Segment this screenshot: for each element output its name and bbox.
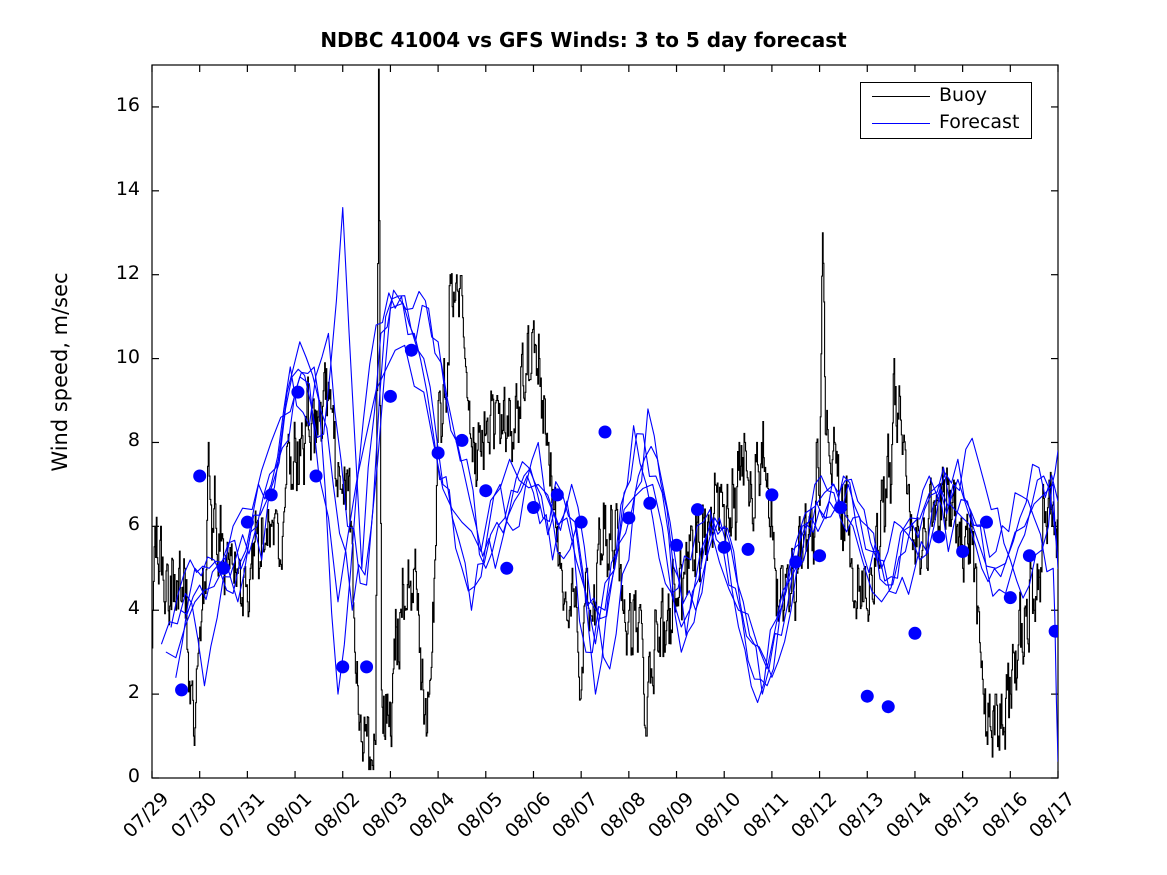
y-tick-label: 14 <box>100 178 140 200</box>
y-tick-label: 6 <box>100 513 140 535</box>
axis-ticks <box>152 65 1058 778</box>
y-tick-label: 8 <box>100 429 140 451</box>
legend-label-forecast: Forecast <box>939 111 1019 133</box>
y-tick-label: 10 <box>100 346 140 368</box>
legend-entry-forecast: Forecast <box>861 110 1033 138</box>
legend-entry-buoy: Buoy <box>861 83 1033 111</box>
legend-swatch-forecast <box>872 123 930 124</box>
figure-canvas: NDBC 41004 vs GFS Winds: 3 to 5 day fore… <box>0 0 1167 875</box>
y-tick-label: 2 <box>100 681 140 703</box>
buoy-series-line <box>152 69 1058 769</box>
legend-label-buoy: Buoy <box>939 84 987 106</box>
y-tick-label: 12 <box>100 262 140 284</box>
y-tick-label: 0 <box>100 765 140 787</box>
y-tick-label: 4 <box>100 597 140 619</box>
y-tick-label: 16 <box>100 94 140 116</box>
axes-frame <box>152 65 1058 778</box>
legend: Buoy Forecast <box>860 82 1032 139</box>
legend-swatch-buoy <box>872 96 930 97</box>
